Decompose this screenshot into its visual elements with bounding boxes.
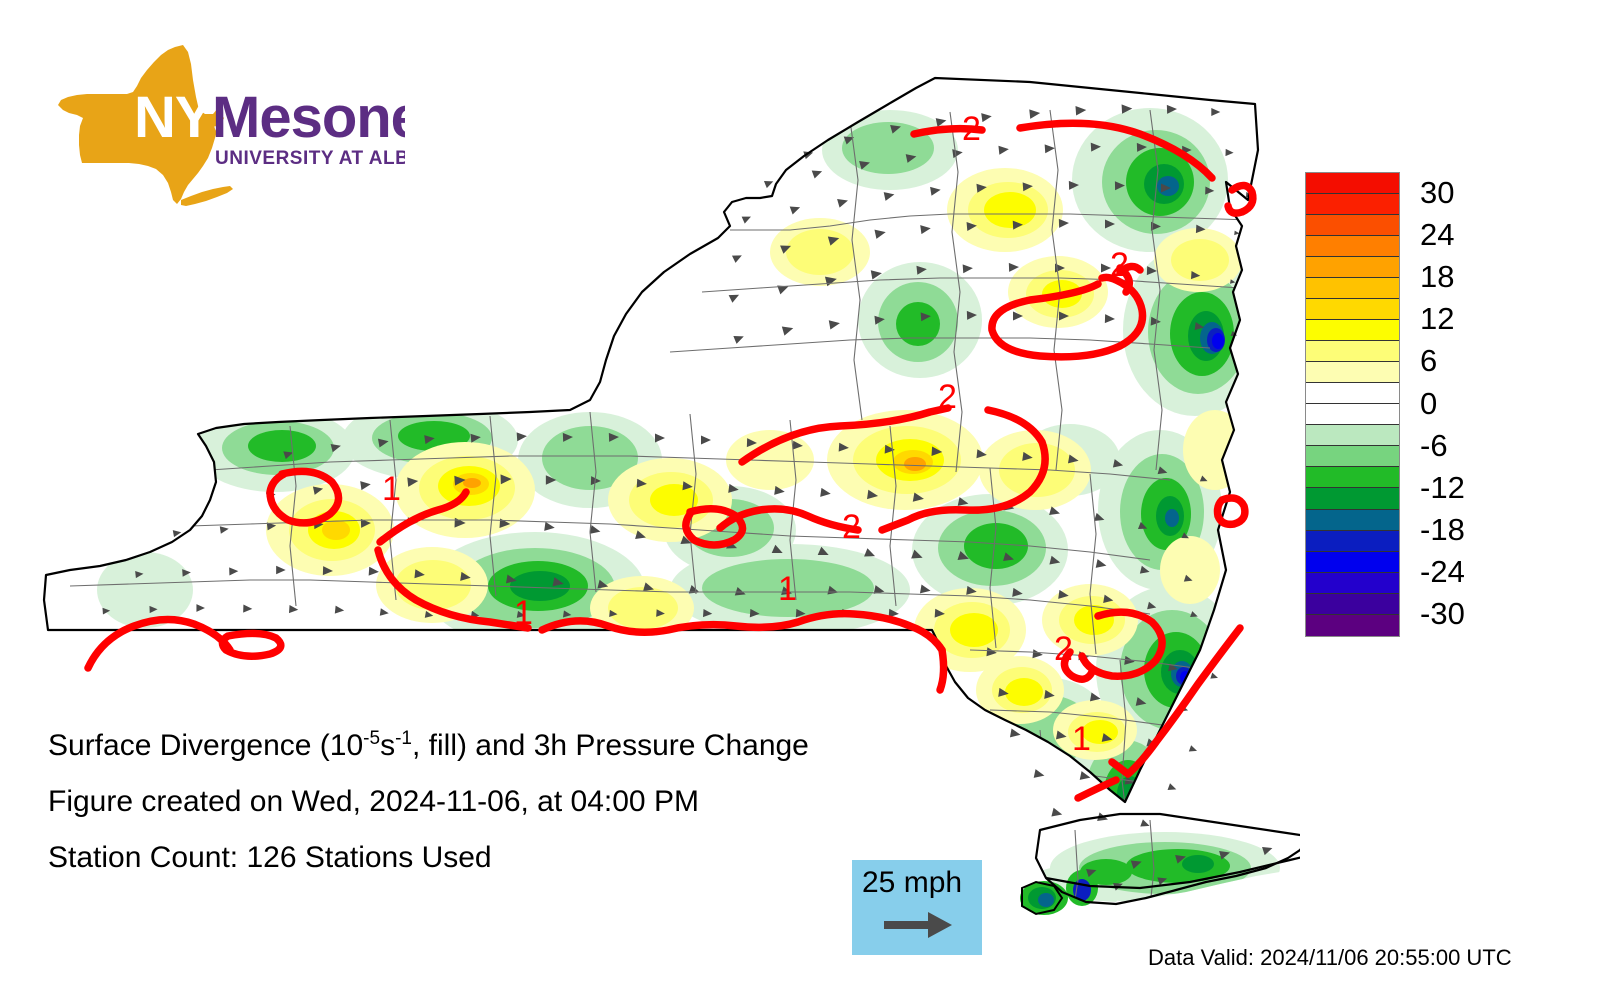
long-island-fill-layer (990, 800, 1300, 940)
wind-legend-label: 25 mph (862, 864, 962, 902)
contour-label-1-west: 1 (382, 470, 401, 508)
caption-line-title: Surface Divergence (10-5s-1, fill) and 3… (48, 718, 948, 774)
colorbar-band (1306, 362, 1399, 383)
colorbar-band (1306, 278, 1399, 299)
colorbar-tick-labels: 3024181260-6-12-18-24-30 (1410, 172, 1520, 637)
colorbar-band (1306, 467, 1399, 488)
caption-title-c: , fill) and 3h Pressure Change (412, 729, 809, 762)
contour-label-2-midwest: 2 (842, 508, 861, 546)
wind-speed-legend: 25 mph (852, 860, 982, 955)
contour-label-2-central: 2 (938, 378, 957, 416)
wind-legend-arrow-icon (882, 910, 954, 940)
colorbar-band (1306, 425, 1399, 446)
colorbar-tick-label: 6 (1420, 345, 1437, 376)
colorbar-band (1306, 594, 1399, 615)
caption-exponent-2: -1 (395, 728, 412, 749)
colorbar-band (1306, 552, 1399, 573)
colorbar-tick-label: -30 (1420, 598, 1465, 629)
colorbar-band (1306, 320, 1399, 341)
caption-title-a: Surface Divergence (10 (48, 729, 363, 762)
contour-label-2-north: 2 (962, 110, 981, 148)
contour-label-1-hudson: 1 (1072, 720, 1091, 758)
colorbar-band (1306, 341, 1399, 362)
colorbar-band (1306, 173, 1399, 194)
colorbar-band (1306, 615, 1399, 636)
colorbar-band (1306, 215, 1399, 236)
caption-title-b: s (380, 729, 395, 762)
contour-label-1-southwest: 1 (514, 594, 533, 632)
contour-label-1-south: 1 (778, 570, 797, 608)
colorbar-band (1306, 194, 1399, 215)
colorbar-tick-label: 24 (1420, 219, 1454, 250)
data-valid-timestamp: Data Valid: 2024/11/06 20:55:00 UTC (1148, 945, 1512, 971)
colorbar-tick-label: 0 (1420, 388, 1437, 419)
caption-line-created: Figure created on Wed, 2024-11-06, at 04… (48, 774, 948, 830)
colorbar: 3024181260-6-12-18-24-30 (1300, 172, 1580, 642)
colorbar-tick-label: -6 (1420, 430, 1448, 461)
colorbar-bands (1305, 172, 1400, 637)
colorbar-band (1306, 404, 1399, 425)
colorbar-tick-label: 30 (1420, 177, 1454, 208)
colorbar-band (1306, 573, 1399, 594)
colorbar-tick-label: -12 (1420, 472, 1465, 503)
caption-exponent-1: -5 (363, 728, 380, 749)
colorbar-tick-label: 12 (1420, 303, 1454, 334)
colorbar-band (1306, 488, 1399, 509)
colorbar-tick-label: -18 (1420, 514, 1465, 545)
contour-label-2-northeast: 2 (1110, 246, 1129, 284)
colorbar-tick-label: -24 (1420, 556, 1465, 587)
colorbar-band (1306, 531, 1399, 552)
colorbar-tick-label: 18 (1420, 261, 1454, 292)
colorbar-band (1306, 257, 1399, 278)
colorbar-band (1306, 510, 1399, 531)
colorbar-band (1306, 236, 1399, 257)
colorbar-band (1306, 299, 1399, 320)
colorbar-band (1306, 446, 1399, 467)
contour-label-2-southeast: 2 (1054, 630, 1073, 668)
colorbar-band (1306, 383, 1399, 404)
caption-block: Surface Divergence (10-5s-1, fill) and 3… (48, 718, 948, 886)
caption-line-station-count: Station Count: 126 Stations Used (48, 830, 948, 886)
